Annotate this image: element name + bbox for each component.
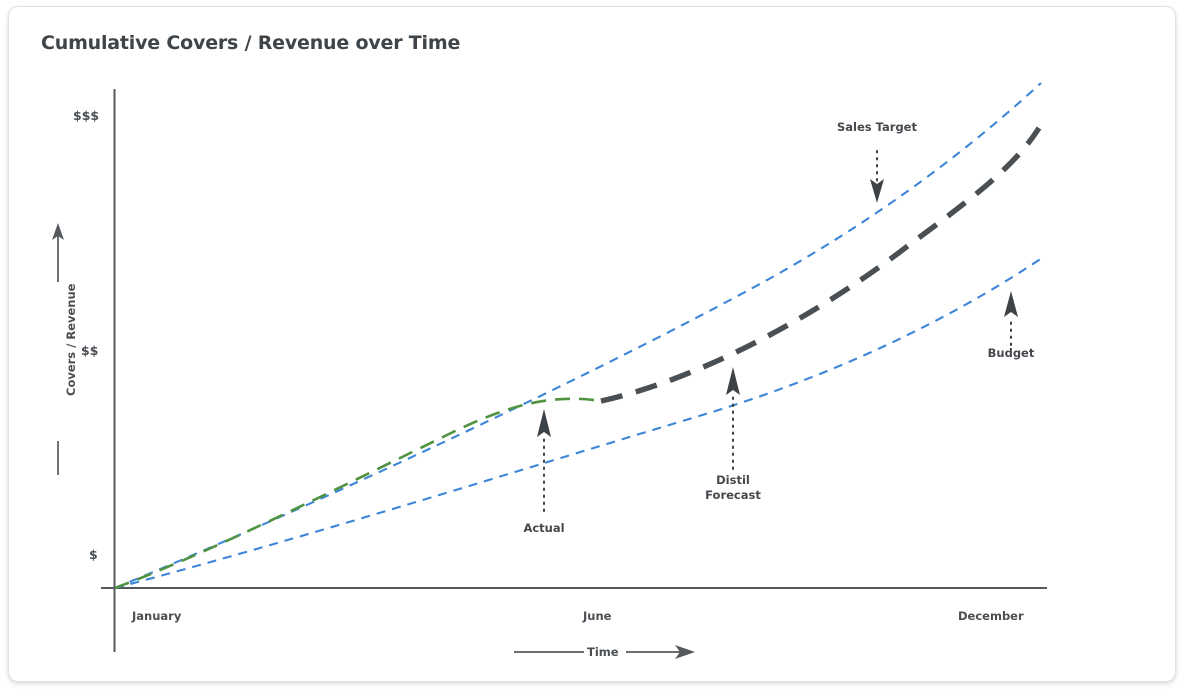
y-tick-label-low: $ bbox=[89, 547, 98, 562]
x-axis-title: Time bbox=[587, 645, 619, 659]
annotation-arrow-actual bbox=[537, 409, 551, 511]
x-tick-label-june: June bbox=[583, 609, 611, 623]
annotation-arrow-distil-forecast bbox=[726, 367, 740, 469]
annotation-label-distil-forecast: Distil Forecast bbox=[687, 473, 779, 503]
chart-plot-area bbox=[9, 7, 1177, 683]
annotation-label-actual: Actual bbox=[498, 521, 590, 536]
x-axis-arrow-icon bbox=[626, 645, 695, 659]
x-tick-label-january: January bbox=[132, 609, 181, 623]
series-line-actual bbox=[115, 399, 601, 588]
annotation-label-distil-forecast-line1: Distil bbox=[687, 473, 779, 488]
y-tick-label-high: $$$ bbox=[73, 108, 99, 123]
annotation-arrow-sales-target bbox=[870, 151, 884, 203]
series-line-sales-target bbox=[115, 83, 1041, 588]
annotation-label-budget: Budget bbox=[965, 346, 1057, 361]
series-line-budget bbox=[115, 256, 1045, 588]
annotation-label-sales-target: Sales Target bbox=[831, 120, 923, 135]
y-axis-arrow-icon bbox=[52, 223, 64, 282]
y-axis-title: Covers / Revenue bbox=[64, 284, 78, 396]
x-tick-label-december: December bbox=[958, 609, 1024, 623]
y-tick-label-mid: $$ bbox=[81, 343, 98, 358]
chart-card: Cumulative Covers / Revenue over Time bbox=[8, 6, 1176, 682]
annotation-arrow-budget bbox=[1004, 291, 1018, 345]
annotation-label-distil-forecast-line2: Forecast bbox=[687, 488, 779, 503]
